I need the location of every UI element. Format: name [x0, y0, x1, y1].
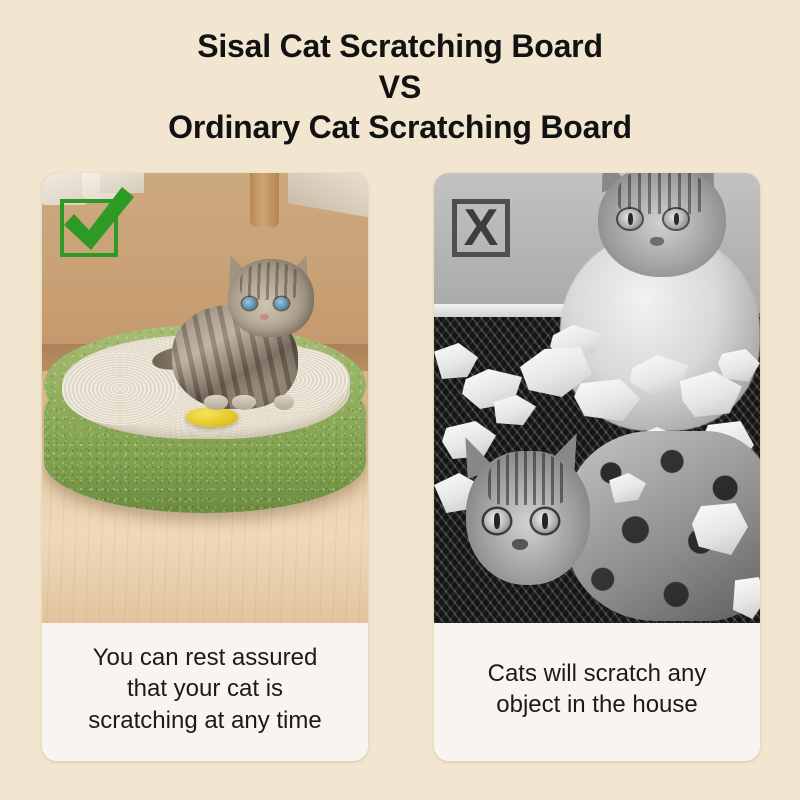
caption-good: You can rest assured that your cat is sc…	[42, 623, 368, 761]
kitten-eye-right	[274, 297, 289, 310]
check-badge	[60, 199, 118, 257]
wooden-post	[250, 173, 279, 227]
kitten-nose	[260, 314, 269, 320]
fluffy-cat-eye-left	[618, 209, 642, 229]
cross-icon: X	[452, 199, 510, 257]
caption-bad-text: Cats will scratch any object in the hous…	[488, 658, 707, 720]
title-vs-separator: VS	[0, 67, 800, 108]
comparison-card-bad[interactable]: X Cats will scratch any object in the ho…	[434, 173, 760, 761]
product-photo-bad: X	[434, 173, 760, 623]
fluffy-cat-head	[598, 173, 726, 277]
cross-badge: X	[452, 199, 510, 257]
fluffy-cat-nose	[650, 237, 664, 246]
kitten-head	[228, 259, 314, 337]
fluffy-cat-eye-right	[664, 209, 688, 229]
product-photo-good	[42, 173, 368, 623]
kitten-eye-left	[242, 297, 257, 310]
kitten-paw	[232, 395, 256, 410]
spotted-cat-eye-right	[532, 509, 558, 533]
tabby-kitten	[170, 259, 320, 419]
check-icon	[56, 183, 136, 261]
comparison-cards: You can rest assured that your cat is sc…	[42, 173, 760, 761]
kitten-paw	[204, 395, 228, 410]
title-line-2: Ordinary Cat Scratching Board	[0, 107, 800, 148]
title-line-1: Sisal Cat Scratching Board	[0, 26, 800, 67]
spotted-cat-nose	[512, 539, 528, 550]
caption-good-text: You can rest assured that your cat is sc…	[88, 642, 321, 736]
comparison-card-good[interactable]: You can rest assured that your cat is sc…	[42, 173, 368, 761]
caption-bad: Cats will scratch any object in the hous…	[434, 623, 760, 761]
spotted-cat-eye-left	[484, 509, 510, 533]
page-title: Sisal Cat Scratching Board VS Ordinary C…	[0, 26, 800, 148]
kitten-paw	[274, 395, 294, 410]
